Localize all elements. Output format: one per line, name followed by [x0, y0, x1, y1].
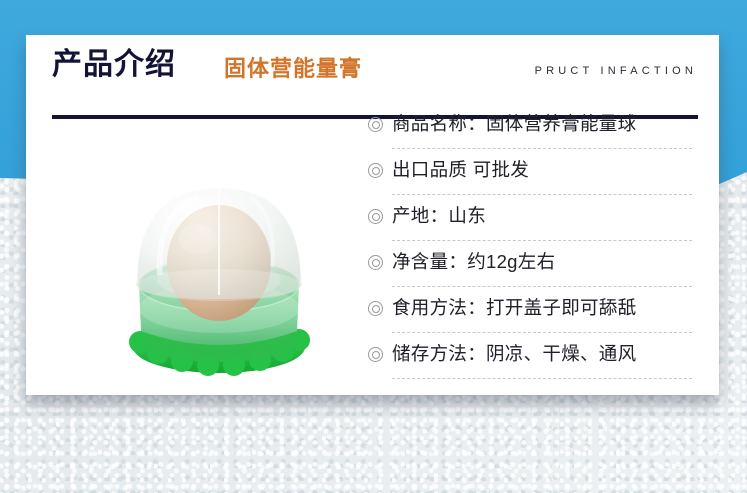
card-header: 产品介绍 固体营能量膏 PRUCT INFACTION [52, 43, 697, 105]
spec-label: 产地：山东 [392, 203, 486, 229]
product-photo [94, 135, 344, 385]
double-circle-icon [368, 163, 383, 178]
spec-label: 商品名称：固体营养膏能量球 [392, 111, 636, 137]
page-subtitle: 固体营能量膏 [224, 54, 362, 84]
product-clear-dome-lid [136, 187, 302, 301]
double-circle-icon [368, 255, 383, 270]
double-circle-icon [368, 347, 383, 362]
double-circle-icon [368, 301, 383, 316]
list-item: 食用方法：打开盖子即可舔舐 [368, 287, 698, 333]
double-circle-icon [368, 209, 383, 224]
list-item: 商品名称：固体营养膏能量球 [368, 103, 698, 149]
product-spec-list: 商品名称：固体营养膏能量球 出口品质 可批发 产地：山东 [368, 103, 698, 379]
spec-divider [392, 378, 692, 379]
list-item: 出口品质 可批发 [368, 149, 698, 195]
spec-label: 净含量：约12g左右 [392, 249, 555, 275]
product-info-card: 产品介绍 固体营能量膏 PRUCT INFACTION [26, 35, 719, 395]
list-item: 储存方法：阴凉、干燥、通风 [368, 333, 698, 379]
list-item: 净含量：约12g左右 [368, 241, 698, 287]
product-introduction-page: 产品介绍 固体营能量膏 PRUCT INFACTION [0, 0, 747, 493]
product-illustration-svg [94, 135, 344, 385]
spec-label: 出口品质 可批发 [392, 157, 529, 183]
header-english-label: PRUCT INFACTION [535, 63, 697, 79]
page-title: 产品介绍 [52, 47, 176, 83]
spec-label: 食用方法：打开盖子即可舔舐 [392, 295, 636, 321]
spec-label: 储存方法：阴凉、干燥、通风 [392, 341, 636, 367]
list-item: 产地：山东 [368, 195, 698, 241]
double-circle-icon [368, 117, 383, 132]
